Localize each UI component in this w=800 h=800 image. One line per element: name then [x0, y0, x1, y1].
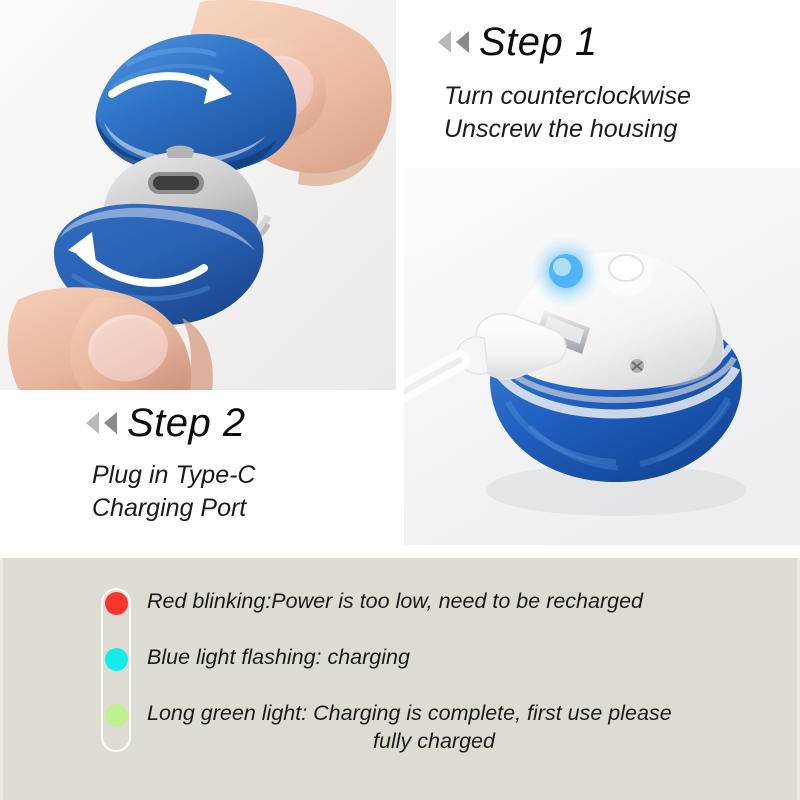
legend-text-green: Long green light: Charging is complete, … [131, 700, 761, 756]
infographic-page: Step 1 Turn counterclockwise Unscrew the… [0, 0, 800, 800]
legend-text-blue: Blue light flashing: charging [131, 644, 761, 672]
legend-inner: Red blinking:Power is too low, need to b… [101, 588, 761, 756]
step2-title: Step 2 [127, 403, 246, 443]
triangle-left-icon [438, 31, 451, 53]
legend-text-green-line-2: fully charged [147, 728, 761, 756]
step2-body: Plug in Type-C Charging Port [92, 459, 256, 525]
legend-text-green-line-1: Long green light: Charging is complete, … [147, 701, 672, 725]
screw-detail [626, 355, 648, 377]
green-led-dot [105, 704, 128, 727]
step2-body-line-1: Plug in Type-C [92, 459, 256, 492]
step1-arrow-group [438, 31, 469, 53]
step2-heading: Step 2 [86, 403, 246, 443]
step1-photo [0, 0, 396, 390]
step2-body-line-2: Charging Port [92, 492, 256, 525]
legend-item-red: Red blinking:Power is too low, need to b… [101, 588, 761, 644]
step2-arrow-group [86, 412, 117, 434]
legend-rows: Red blinking:Power is too low, need to b… [101, 588, 761, 756]
step1-title: Step 1 [479, 22, 598, 62]
device-button [600, 252, 652, 296]
triangle-left-icon [456, 31, 469, 53]
step1-heading: Step 1 [438, 22, 598, 62]
blue-led-dot [105, 648, 128, 671]
triangle-left-icon [104, 412, 117, 434]
step1-body-line-2: Unscrew the housing [444, 113, 691, 146]
red-led-dot [105, 592, 128, 615]
triangle-left-icon [86, 412, 99, 434]
step2-illustration [404, 168, 800, 545]
legend-item-blue: Blue light flashing: charging [101, 644, 761, 700]
legend-text-red: Red blinking:Power is too low, need to b… [131, 588, 761, 616]
step2-text-panel: Step 2 Plug in Type-C Charging Port [0, 390, 404, 558]
led-glow-indicator [530, 236, 602, 308]
legend-item-green: Long green light: Charging is complete, … [101, 700, 761, 756]
led-status-legend: Red blinking:Power is too low, need to b… [0, 558, 800, 800]
step1-body-line-1: Turn counterclockwise [444, 80, 691, 113]
step1-body: Turn counterclockwise Unscrew the housin… [444, 80, 691, 146]
step1-text-panel: Step 1 Turn counterclockwise Unscrew the… [404, 0, 800, 168]
step1-illustration [0, 0, 396, 390]
step2-photo [404, 168, 800, 545]
